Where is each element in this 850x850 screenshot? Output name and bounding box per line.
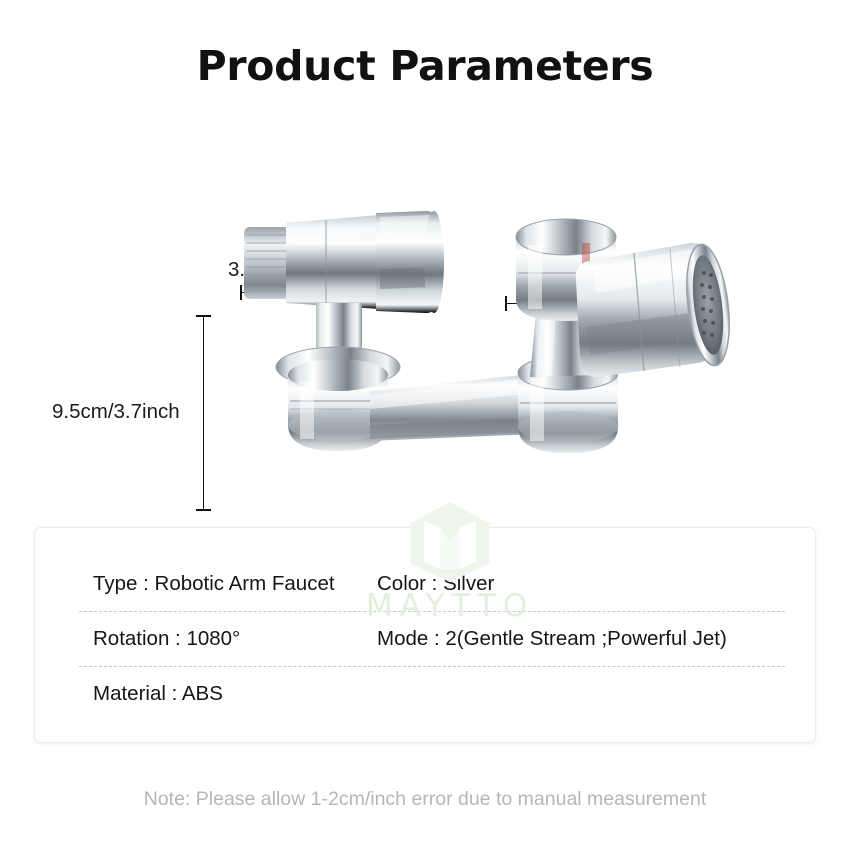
dimension-line-left [203,315,204,511]
spec-type: Type : Robotic Arm Faucet [47,572,377,596]
table-row: Type : Robotic Arm Faucet Color : Silver [47,556,803,611]
faucet-aerator-head [576,242,736,377]
spec-color: Color : Silver [377,572,803,596]
product-diagram: MAYTTO 3.5cm/1.4inch 6cm/2.4inch 9.5cm/3… [0,110,850,510]
dimension-label-left: 9.5cm/3.7inch [52,400,180,424]
spec-rotation: Rotation : 1080° [47,627,377,651]
page-title: Product Parameters [0,42,850,90]
spec-material: Material : ABS [47,682,377,706]
product-image-faucet [230,195,750,525]
spec-table: Type : Robotic Arm Faucet Color : Silver… [34,527,816,743]
faucet-inlet [244,211,444,313]
table-row: Material : ABS [47,666,803,721]
footer-note: Note: Please allow 1-2cm/inch error due … [0,788,850,811]
table-row: Rotation : 1080° Mode : 2(Gentle Stream … [47,611,803,666]
spec-mode: Mode : 2(Gentle Stream ;Powerful Jet) [377,627,803,651]
